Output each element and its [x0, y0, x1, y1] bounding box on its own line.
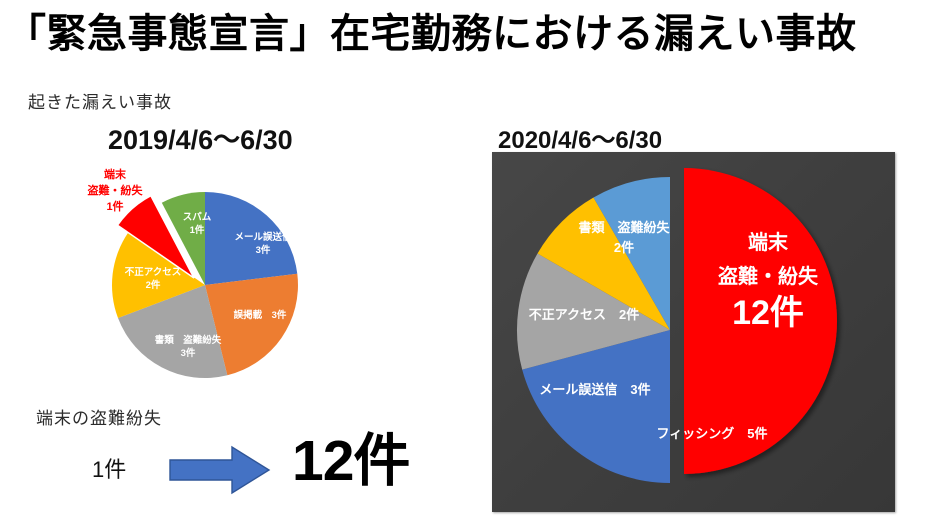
pie-label-device-2020-line2: 盗難・紛失 — [718, 264, 819, 288]
pie-label-spam: スパム — [183, 211, 212, 223]
pie-label-paper: 書類 盗難紛失 — [155, 334, 222, 346]
pie-chart-2020: 端末 盗難・紛失 12件 フィッシング 5件 メール誤送信 3件 不正アクセス … — [492, 152, 895, 512]
pie-chart-2020-panel: 端末 盗難・紛失 12件 フィッシング 5件 メール誤送信 3件 不正アクセス … — [492, 152, 895, 512]
pie-label-access-count: 2件 — [146, 279, 161, 291]
pie-label-device-highlight-2019: 端末 盗難・紛失 1件 — [62, 168, 168, 216]
summary-caption: 端末の盗難紛失 — [36, 404, 162, 429]
left-chart-caption: 起きた漏えい事故 — [28, 88, 172, 113]
pie-label-access-2020: 不正アクセス 2件 — [529, 307, 640, 322]
pie-label-mail: メール誤送信 — [234, 231, 292, 243]
pie-label-spam-count: 1件 — [190, 224, 205, 236]
pie-label-paper-2020-line1: 書類 盗難紛失 — [578, 220, 670, 235]
pie-label-phishing: フィッシング 5件 — [657, 426, 768, 441]
right-chart-period: 2020/4/6〜6/30 — [498, 120, 662, 155]
pie-label-mail-count: 3件 — [256, 244, 271, 256]
pie-label-access: 不正アクセス — [125, 267, 182, 278]
highlight-line-1: 端末 — [62, 168, 168, 184]
right-arrow-icon — [168, 444, 272, 496]
highlight-line-3: 1件 — [62, 200, 168, 216]
pie-label-mail-2020: メール誤送信 3件 — [539, 382, 650, 397]
left-chart-period: 2019/4/6〜6/30 — [108, 118, 293, 157]
pie-label-post: 誤掲載 3件 — [234, 309, 287, 321]
highlight-line-2: 盗難・紛失 — [62, 184, 168, 200]
summary-after-value: 12件 — [292, 433, 409, 490]
pie-label-device-2020-line1: 端末 — [748, 231, 789, 254]
page-title: 「緊急事態宣言」在宅勤務における漏えい事故 — [6, 12, 934, 56]
pie-label-paper-2020-line2: 2件 — [614, 240, 634, 255]
summary-before-value: 1件 — [92, 452, 126, 484]
pie-label-device-2020-count: 12件 — [732, 294, 804, 332]
pie-label-paper-count: 3件 — [181, 347, 196, 359]
